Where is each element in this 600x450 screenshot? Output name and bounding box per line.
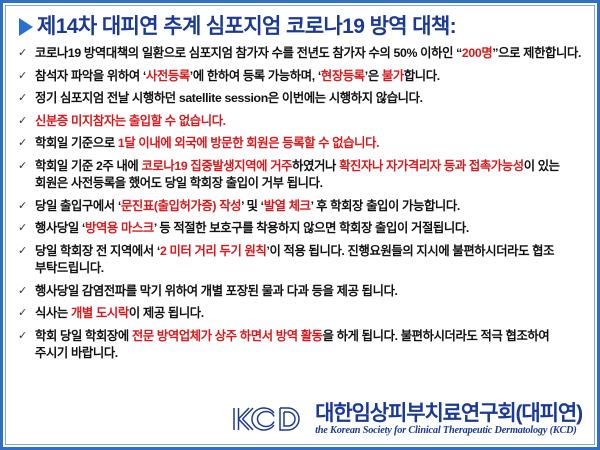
check-icon: ✓ [16,45,35,62]
list-item-text: 행사당일 감염전파를 막기 위하여 개별 포장된 물과 다과 등을 제공 됩니다… [35,283,584,301]
covid-measures-list: ✓코로나19 방역대책의 일환으로 심포지엄 참가자 수를 전년도 참가자 수의… [16,45,584,363]
check-icon: ✓ [16,328,35,345]
list-item: ✓식사는 개별 도시락이 제공 됩니다. [16,305,584,323]
list-item: ✓학회 당일 학회장에 전문 방역업체가 상주 하면서 방역 활동을 하게 됩니… [16,328,584,363]
list-item-text: 당일 출입구에서 ‘문진표(출입허가증) 작성’ 및 ‘발열 체크’ 후 학회장… [35,198,584,216]
text-run: 당일 출입구에서 ‘ [35,199,121,213]
text-run: 코로나19 방역대책의 일환으로 심포지엄 참가자 수를 전년도 참가자 수의 … [35,46,462,60]
text-run: ’ 후 학회장 출입이 가능합니다. [311,199,460,213]
notice-inner: 제14차 대피연 추계 심포지엄 코로나19 방역 대책: ✓코로나19 방역대… [5,5,595,445]
highlighted-text: 확진자나 자가격리자 등과 접촉가능성 [339,159,524,173]
text-run: 식사는 [35,306,71,320]
society-name-korean: 대한임상피부치료연구회(대피연) [315,403,582,424]
highlighted-text: 전문 방역업체가 상주 하면서 방역 활동 [132,329,323,343]
text-run: 정기 심포지엄 전날 시행하던 satellite session은 이번에는 … [35,91,423,105]
list-item-text: 행사당일 ‘방역용 마스크’ 등 적절한 보호구를 착용하지 않으면 학회장 출… [35,220,584,238]
highlighted-text: 문진표(출입허가증) 작성 [121,199,241,213]
kcd-logo-icon [230,405,308,433]
text-run: 행사당일 ‘ [35,221,85,235]
highlighted-text: 1달 이내에 외국에 방문한 회원은 등록할 수 없습니다. [118,136,379,150]
list-item: ✓참석자 파악을 위하여 ‘사전등록’에 한하여 등록 가능하며, ‘현장등록’… [16,68,584,86]
text-run: 당일 학회장 전 지역에서 ‘ [35,244,160,258]
text-run: ’은 [365,69,382,83]
check-icon: ✓ [16,243,35,260]
check-icon: ✓ [16,198,35,215]
highlighted-text: 개별 도시락 [71,306,129,320]
check-icon: ✓ [16,158,35,175]
list-item: ✓행사당일 ‘방역용 마스크’ 등 적절한 보호구를 착용하지 않으면 학회장 … [16,220,584,238]
list-item: ✓당일 학회장 전 지역에서 ‘2 미터 거리 두기 원칙’이 적용 됩니다. … [16,243,584,278]
check-icon: ✓ [16,135,35,152]
list-item: ✓정기 심포지엄 전날 시행하던 satellite session은 이번에는… [16,90,584,108]
footer-logo: 대한임상피부치료연구회(대피연) the Korean Society for … [230,403,582,436]
text-run: 학회일 기준으로 [35,136,118,150]
notice-frame: 제14차 대피연 추계 심포지엄 코로나19 방역 대책: ✓코로나19 방역대… [0,0,600,450]
list-item: ✓행사당일 감염전파를 막기 위하여 개별 포장된 물과 다과 등을 제공 됩니… [16,283,584,301]
check-icon: ✓ [16,113,35,130]
list-item-text: 코로나19 방역대책의 일환으로 심포지엄 참가자 수를 전년도 참가자 수의 … [35,45,584,63]
check-icon: ✓ [16,68,35,85]
check-icon: ✓ [16,220,35,237]
page-title: 제14차 대피연 추계 심포지엄 코로나19 방역 대책: [19,15,584,38]
list-item-text: 참석자 파악을 위하여 ‘사전등록’에 한하여 등록 가능하며, ‘현장등록’은… [35,68,584,86]
list-item-text: 식사는 개별 도시락이 제공 됩니다. [35,305,584,323]
text-run: ’ 등 적절한 보호구를 착용하지 않으면 학회장 출입이 거절됩니다. [154,221,469,235]
highlighted-text: 200명 [462,46,492,60]
list-item-text: 학회일 기준으로 1달 이내에 외국에 방문한 회원은 등록할 수 없습니다. [35,135,584,153]
text-run: 합니다. [404,69,440,83]
list-item: ✓신분증 미지참자는 출입할 수 없습니다. [16,113,584,131]
text-run: 하였거나 [292,159,339,173]
text-run: 신분증 미지참자는 출입할 수 없습니다. [35,114,226,128]
text-run: 이 제공 됩니다. [129,306,204,320]
text-run: 학회일 기준 2주 내에 [35,159,141,173]
list-item-text: 정기 심포지엄 전날 시행하던 satellite session은 이번에는 … [35,90,584,108]
society-name-english: the Korean Society for Clinical Therapeu… [315,426,577,436]
highlighted-text: 불가 [382,69,404,83]
list-item-text: 당일 학회장 전 지역에서 ‘2 미터 거리 두기 원칙’이 적용 됩니다. 진… [35,243,584,278]
list-item: ✓학회일 기준 2주 내에 코로나19 집중발생지역에 거주하였거나 확진자나 … [16,158,584,193]
triangle-right-marker-icon [19,18,33,36]
list-item: ✓당일 출입구에서 ‘문진표(출입허가증) 작성’ 및 ‘발열 체크’ 후 학회… [16,198,584,216]
highlighted-text: 코로나19 집중발생지역에 거주 [141,159,292,173]
list-item: ✓학회일 기준으로 1달 이내에 외국에 방문한 회원은 등록할 수 없습니다. [16,135,584,153]
check-icon: ✓ [16,305,35,322]
list-item-text: 학회 당일 학회장에 전문 방역업체가 상주 하면서 방역 활동을 하게 됩니다… [35,328,584,363]
text-run: ”으로 제한합니다. [492,46,581,60]
text-run: ’ 및 ‘ [241,199,264,213]
text-run: 행사당일 감염전파를 막기 위하여 개별 포장된 물과 다과 등을 제공 됩니다… [35,284,398,298]
page-title-text: 제14차 대피연 추계 심포지엄 코로나19 방역 대책: [37,15,456,38]
highlighted-text: 사전등록 [146,69,190,83]
highlighted-text: 발열 체크 [264,199,311,213]
check-icon: ✓ [16,283,35,300]
check-icon: ✓ [16,90,35,107]
list-item-text: 신분증 미지참자는 출입할 수 없습니다. [35,113,584,131]
text-run: 학회 당일 학회장에 [35,329,132,343]
text-run: 참석자 파악을 위하여 ‘ [35,69,146,83]
highlighted-text: 2 미터 거리 두기 원칙 [160,244,266,258]
highlighted-text: 방역용 마스크 [85,221,154,235]
highlighted-text: 현장등록 [321,69,365,83]
text-run: ’에 한하여 등록 가능하며, ‘ [190,69,321,83]
society-name-block: 대한임상피부치료연구회(대피연) the Korean Society for … [315,403,582,436]
list-item: ✓코로나19 방역대책의 일환으로 심포지엄 참가자 수를 전년도 참가자 수의… [16,45,584,63]
list-item-text: 학회일 기준 2주 내에 코로나19 집중발생지역에 거주하였거나 확진자나 자… [35,158,584,193]
